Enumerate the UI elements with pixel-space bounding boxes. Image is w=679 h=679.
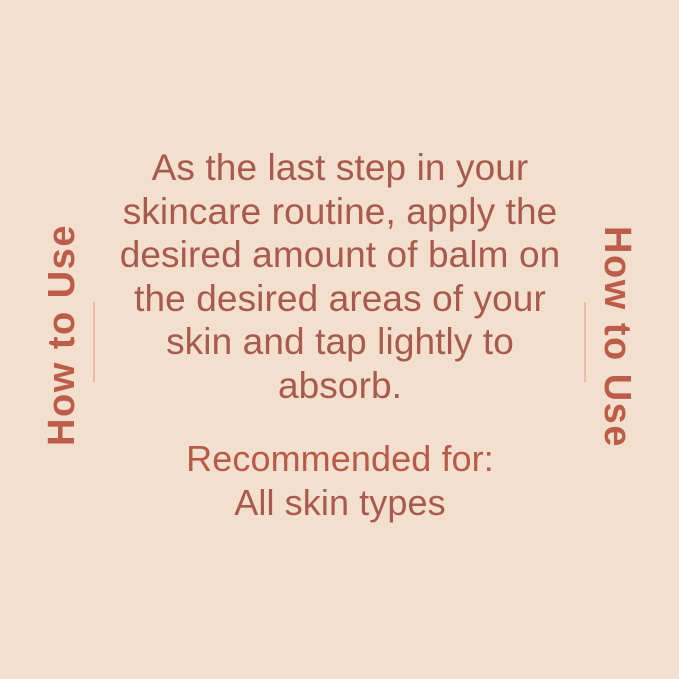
instruction-paragraph: As the last step in your skincare routin…	[105, 146, 575, 407]
divider-left	[93, 302, 95, 382]
recommended-value: All skin types	[186, 481, 494, 525]
recommended-heading: Recommended for:	[186, 437, 494, 481]
recommended-block: Recommended for: All skin types	[186, 437, 494, 525]
how-to-use-card: How to Use As the last step in your skin…	[0, 0, 679, 679]
side-label-left: How to Use	[43, 224, 81, 446]
content-column: As the last step in your skincare routin…	[105, 0, 575, 679]
side-label-right: How to Use	[598, 226, 636, 448]
divider-right	[584, 302, 586, 382]
